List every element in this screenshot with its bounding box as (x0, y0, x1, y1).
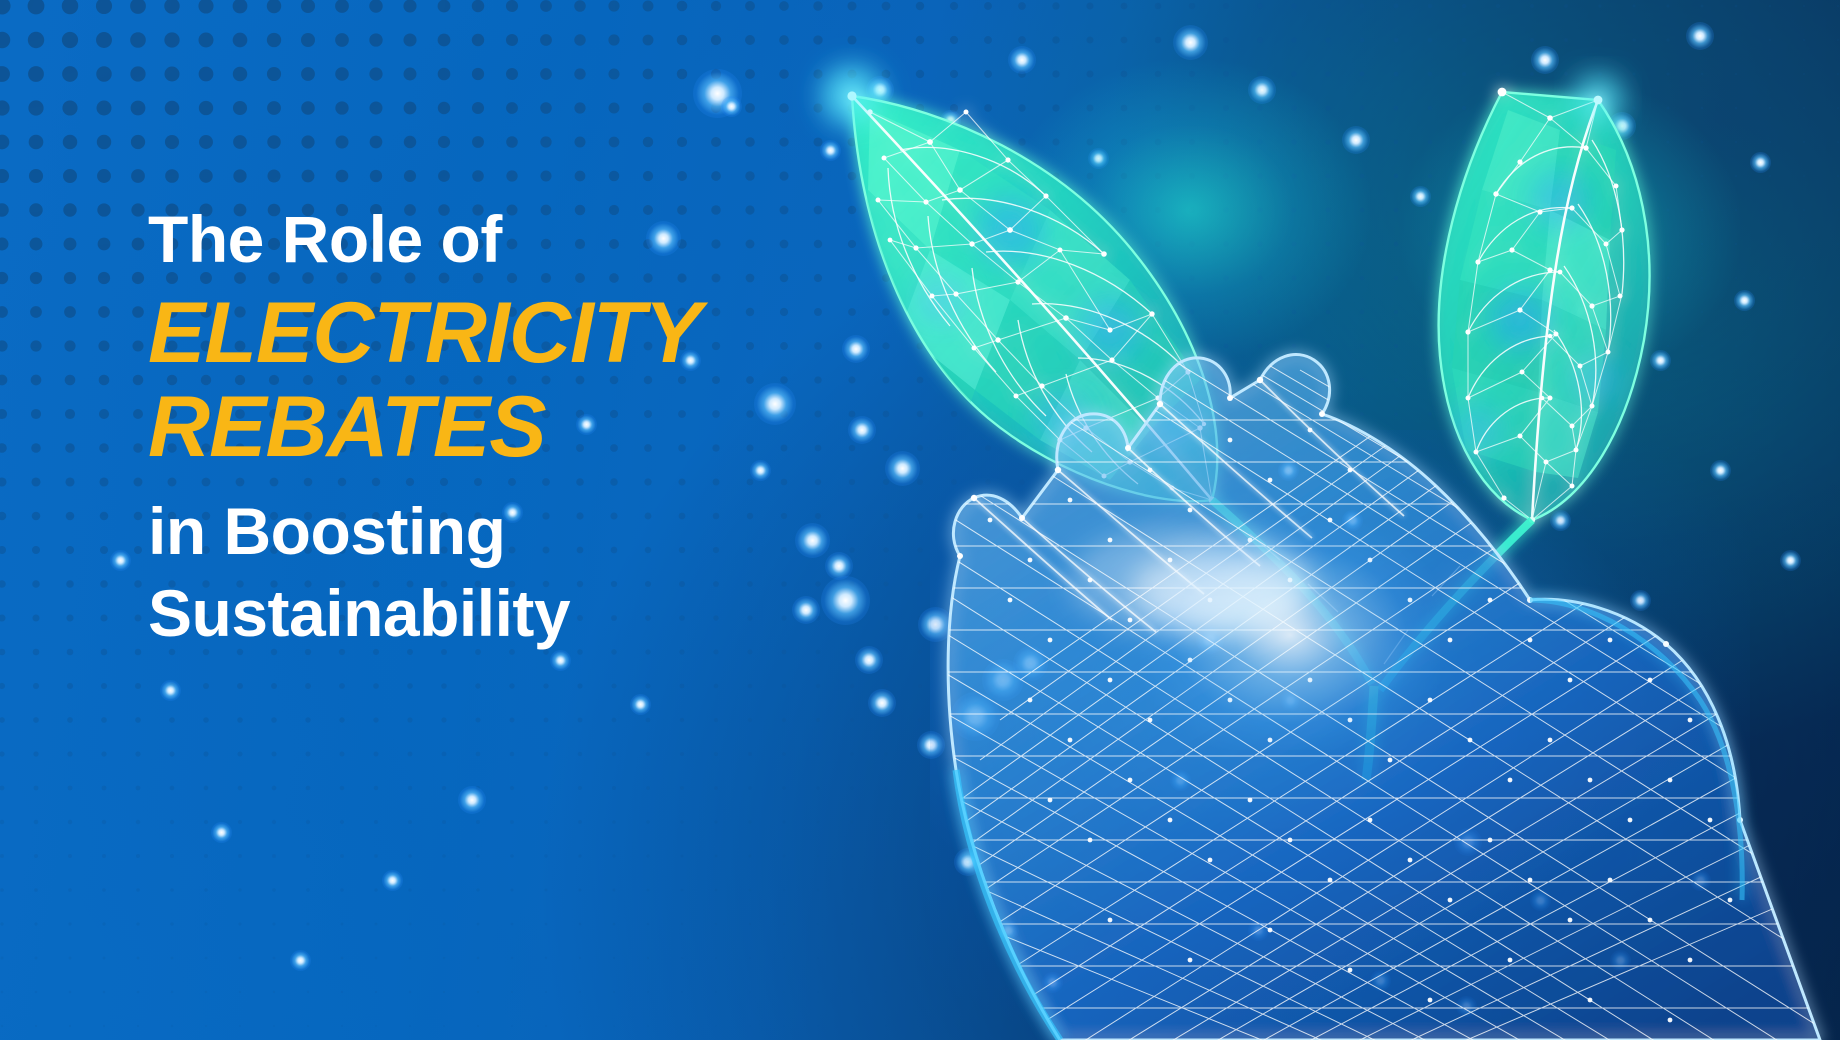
headline-block: The Role of ELECTRICITY REBATES in Boost… (148, 206, 868, 646)
hero-banner: The Role of ELECTRICITY REBATES in Boost… (0, 0, 1840, 1040)
headline-line-4: in Boosting (148, 498, 868, 564)
headline-line-3: REBATES (148, 384, 868, 470)
headline-line-2: ELECTRICITY (148, 290, 868, 376)
palm-glow (1140, 520, 1440, 750)
right-leaf (1439, 78, 1650, 523)
headline-line-5: Sustainability (148, 580, 868, 646)
headline-line-1: The Role of (148, 206, 868, 272)
